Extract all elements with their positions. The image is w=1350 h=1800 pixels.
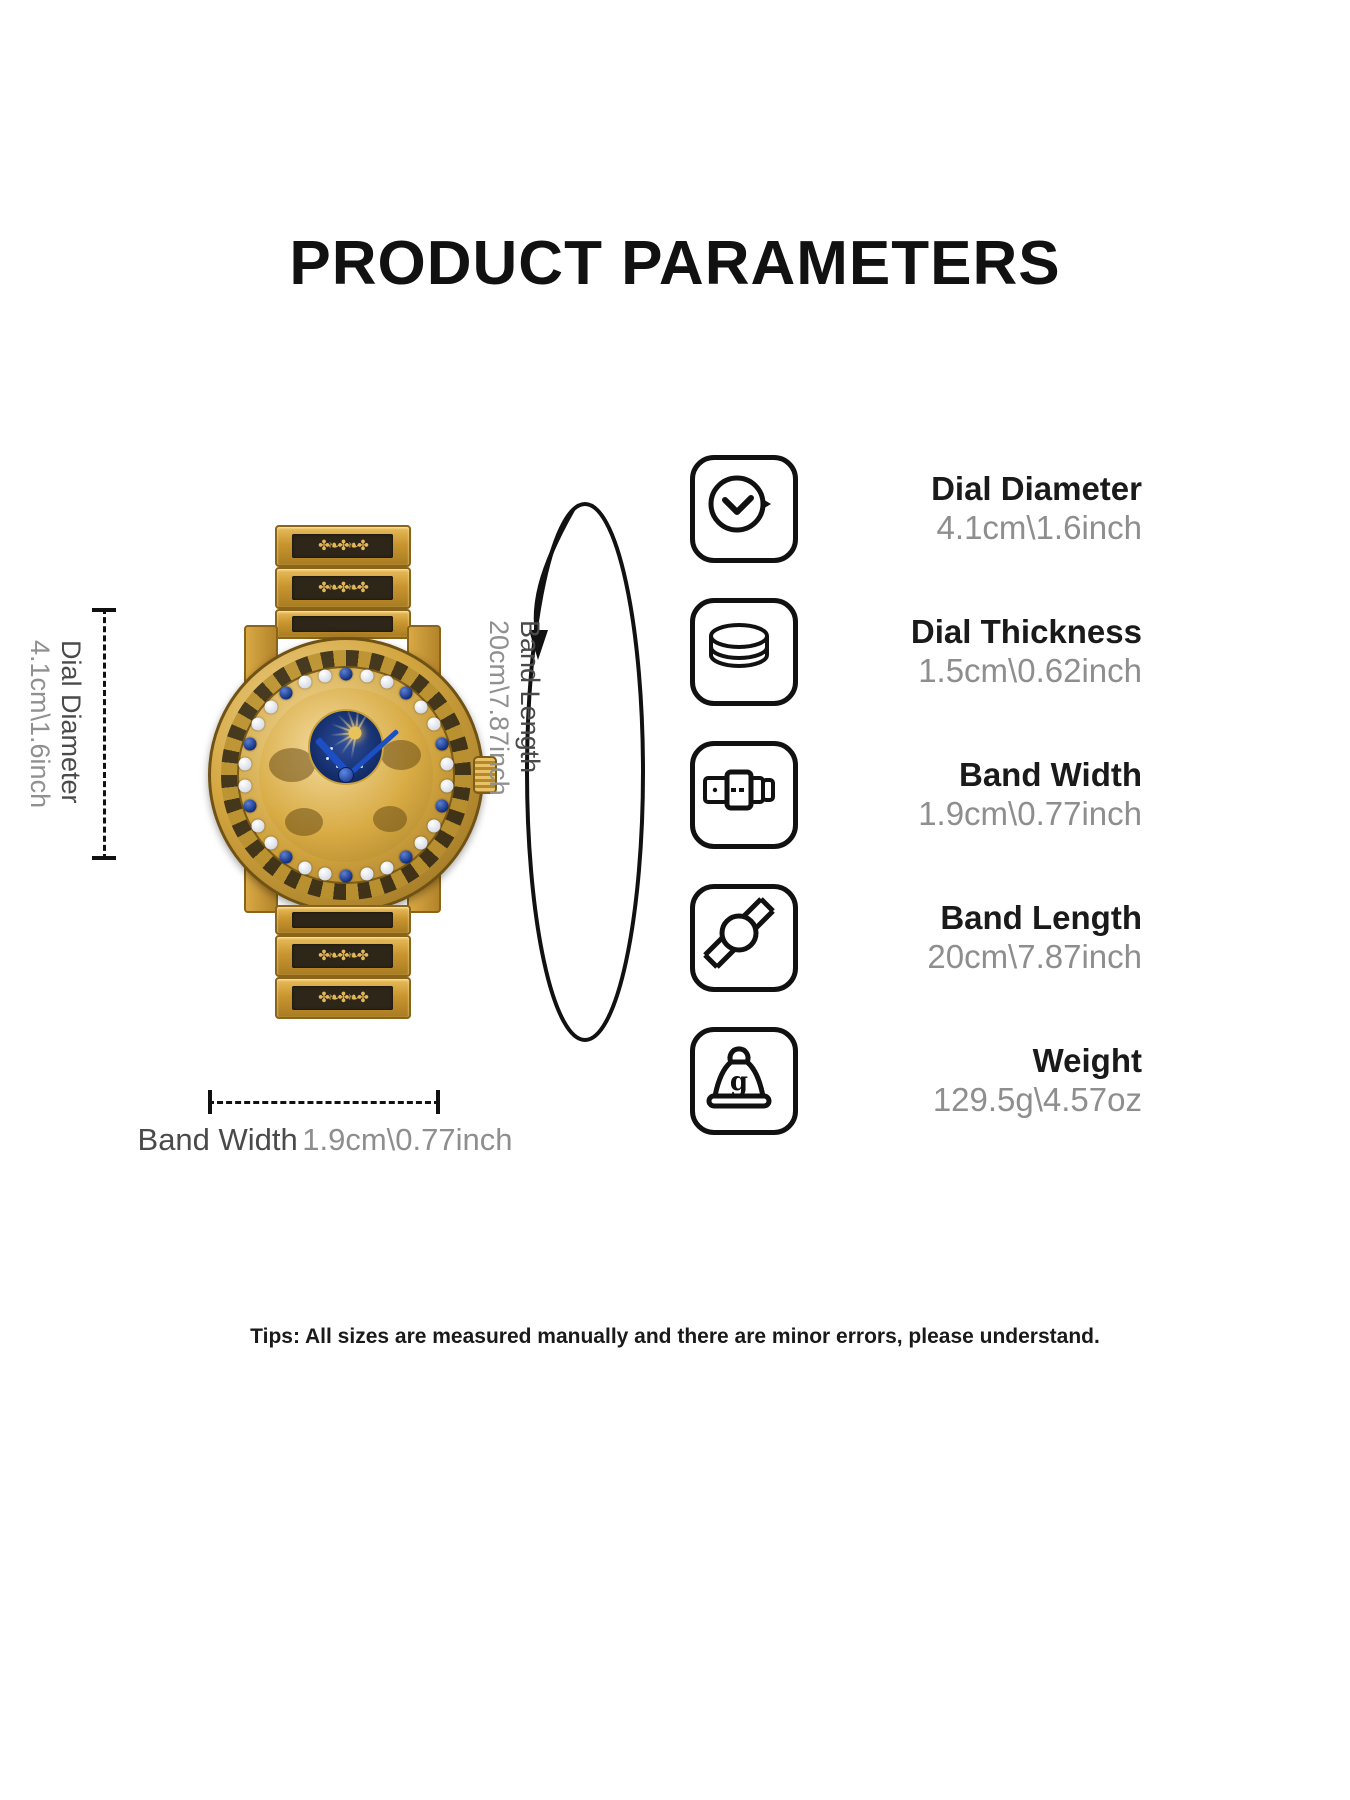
bezel-gemstone xyxy=(280,851,293,864)
spec-label: Band Width xyxy=(798,756,1142,794)
product-watch-image: ✤❧✤❧✤ ✤❧✤❧✤ xyxy=(200,525,485,1045)
scrollwork-ornament: ✤❧✤❧✤ xyxy=(318,538,367,554)
band-width-label-name: Band Width xyxy=(138,1122,298,1157)
bezel-gemstone xyxy=(381,676,394,689)
cylinder-icon xyxy=(690,598,798,706)
band-length-label-name: Band Length xyxy=(514,620,545,796)
bezel-gemstone xyxy=(361,868,374,881)
svg-text:g: g xyxy=(730,1067,748,1097)
bezel-gemstone xyxy=(252,819,265,832)
bezel-gemstone xyxy=(239,758,252,771)
bezel-gemstone xyxy=(436,737,449,750)
spec-row-band-width: Band Width 1.9cm\0.77inch xyxy=(690,723,1150,866)
bezel-gemstone xyxy=(243,737,256,750)
scrollwork-ornament: ✤❧✤❧✤ xyxy=(318,990,367,1006)
sun-motif xyxy=(348,726,361,739)
spec-text-dial-diameter: Dial Diameter 4.1cm\1.6inch xyxy=(798,470,1150,547)
dial-diameter-vertical-label: Dial Diameter 4.1cm\1.6inch xyxy=(24,640,86,808)
spec-row-band-length: Band Length 20cm\7.87inch xyxy=(690,866,1150,1009)
spec-label: Weight xyxy=(798,1042,1142,1080)
spec-value: 129.5g\4.57oz xyxy=(798,1081,1142,1119)
watch-dial-icon xyxy=(690,455,798,563)
band-width-label: Band Width 1.9cm\0.77inch xyxy=(120,1120,530,1160)
dimension-dashed-line xyxy=(103,608,106,860)
hand-pinion xyxy=(338,767,354,783)
bezel-gemstone xyxy=(440,779,453,792)
bracelet-link-bottom-3: ✤❧✤❧✤ xyxy=(275,977,411,1019)
watch-strap-icon xyxy=(690,741,798,849)
footer-tip: Tips: All sizes are measured manually an… xyxy=(0,1325,1350,1349)
bezel-gemstone xyxy=(381,861,394,874)
spec-value: 1.5cm\0.62inch xyxy=(798,652,1142,690)
band-length-label-value: 20cm\7.87inch xyxy=(483,620,514,796)
bracelet-link-bottom-2: ✤❧✤❧✤ xyxy=(275,935,411,977)
bezel-gemstone xyxy=(243,800,256,813)
bracelet-link-bottom-1 xyxy=(275,905,411,935)
bezel-gemstone xyxy=(440,758,453,771)
weight-icon: g xyxy=(690,1027,798,1135)
spec-value: 4.1cm\1.6inch xyxy=(798,509,1142,547)
spec-text-band-length: Band Length 20cm\7.87inch xyxy=(798,899,1150,976)
spec-text-weight: Weight 129.5g\4.57oz xyxy=(798,1042,1150,1119)
scrollwork-ornament: ✤❧✤❧✤ xyxy=(318,948,367,964)
bezel-gemstone xyxy=(340,870,353,883)
bracelet-link-top-3 xyxy=(275,609,411,639)
dial-diameter-dimension-line xyxy=(92,608,116,860)
dimension-cap-bottom xyxy=(92,856,116,860)
bezel-gemstone xyxy=(252,718,265,731)
bezel-gemstone xyxy=(298,861,311,874)
scrollwork-ornament: ✤❧✤❧✤ xyxy=(318,580,367,596)
spec-row-weight: g Weight 129.5g\4.57oz xyxy=(690,1009,1150,1152)
spec-label: Dial Diameter xyxy=(798,470,1142,508)
spec-label: Band Length xyxy=(798,899,1142,937)
spec-text-band-width: Band Width 1.9cm\0.77inch xyxy=(798,756,1150,833)
spec-value: 20cm\7.87inch xyxy=(798,938,1142,976)
bezel-gemstone xyxy=(318,868,331,881)
bezel-gemstone xyxy=(399,686,412,699)
bezel-gemstone xyxy=(427,819,440,832)
bezel-gemstone xyxy=(361,669,374,682)
spec-text-dial-thickness: Dial Thickness 1.5cm\0.62inch xyxy=(798,613,1150,690)
spec-row-dial-diameter: Dial Diameter 4.1cm\1.6inch xyxy=(690,437,1150,580)
page-title: PRODUCT PARAMETERS xyxy=(0,228,1350,299)
dial-diameter-label-name: Dial Diameter xyxy=(55,640,86,808)
dimension-cap-right xyxy=(436,1090,440,1114)
bezel-gemstone xyxy=(399,851,412,864)
spec-list: Dial Diameter 4.1cm\1.6inch Dial Thickne… xyxy=(690,437,1150,1152)
watch-diagonal-icon xyxy=(690,884,798,992)
bezel-gemstone xyxy=(415,701,428,714)
bracelet-link-top-1: ✤❧✤❧✤ xyxy=(275,525,411,567)
bezel-gemstone xyxy=(427,718,440,731)
watch-dial xyxy=(259,688,433,862)
product-parameters-page: PRODUCT PARAMETERS Dial Diameter 4.1cm\1… xyxy=(0,0,1350,1800)
bezel-gemstone xyxy=(318,669,331,682)
bezel-gemstone xyxy=(415,836,428,849)
band-length-vertical-label: Band Length 20cm\7.87inch xyxy=(483,620,545,796)
spec-row-dial-thickness: Dial Thickness 1.5cm\0.62inch xyxy=(690,580,1150,723)
bezel-gemstone xyxy=(436,800,449,813)
band-width-dimension-line xyxy=(208,1090,440,1114)
bezel-gemstone xyxy=(340,667,353,680)
bezel-gemstone xyxy=(264,836,277,849)
dimension-dashed-line xyxy=(208,1101,440,1104)
bezel-gemstone xyxy=(264,701,277,714)
band-width-label-value: 1.9cm\0.77inch xyxy=(302,1122,512,1157)
watch-case xyxy=(208,637,484,913)
bezel-gemstone xyxy=(298,676,311,689)
spec-label: Dial Thickness xyxy=(798,613,1142,651)
bracelet-link-top-2: ✤❧✤❧✤ xyxy=(275,567,411,609)
dial-diameter-label-value: 4.1cm\1.6inch xyxy=(24,640,55,808)
spec-value: 1.9cm\0.77inch xyxy=(798,795,1142,833)
bezel-gemstone xyxy=(280,686,293,699)
bezel-gemstone xyxy=(239,779,252,792)
